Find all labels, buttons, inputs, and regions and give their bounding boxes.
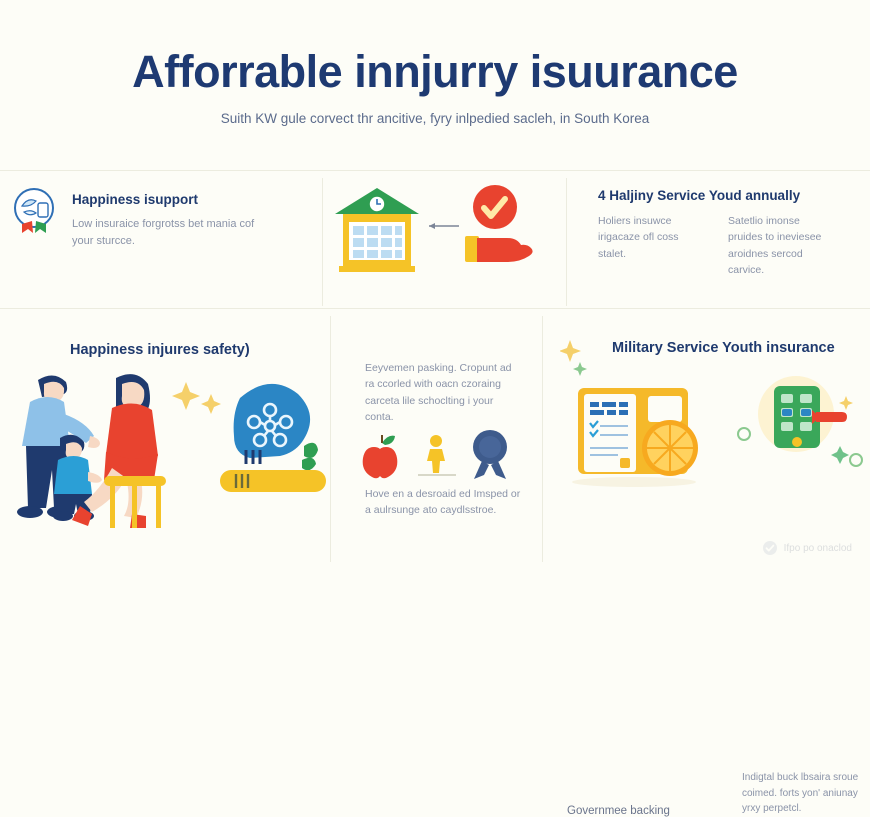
card-service-annually-columns: Holiers insuwce irigacaze ofl coss stale…: [598, 213, 866, 278]
middle-icon-row: [360, 425, 520, 490]
card-happiness-support-text: Happiness isupport Low insuraice forgrot…: [72, 186, 272, 250]
divider-middle: [0, 308, 870, 309]
card-service-column-2: Satetlio imonse pruides to ineviesee aro…: [728, 213, 836, 278]
arrow-left-icon: [429, 223, 459, 229]
page-subtitle: Suith KW gule corvect thr ancitive, fyry…: [0, 111, 870, 126]
page-header: Afforrable innjurry isuurance Suith KW g…: [0, 0, 870, 126]
family-illustration: [8, 360, 328, 555]
page-title: Afforrable innjurry isuurance: [0, 48, 870, 95]
award-badge-icon: [10, 186, 62, 242]
divider-top: [0, 170, 870, 171]
military-service-body-text: Indigtal buck lbsaira sroue coimed. fort…: [742, 770, 866, 817]
card-service-annually-title: 4 Haljiny Service Youd annually: [598, 188, 866, 203]
person-icon: [418, 435, 456, 475]
document-checklist-illustration: [562, 382, 712, 507]
globe-network-emblem-icon: [220, 384, 326, 492]
sparkle-icon: [172, 382, 221, 414]
watermark: Ifpo po onaclod: [762, 540, 852, 556]
card-service-column-1: Holiers insuwce irigacaze ofl coss stale…: [598, 213, 706, 278]
section-title-military-service: Military Service Youth insurance: [612, 340, 835, 356]
check-circle-icon: [762, 540, 778, 556]
school-building-icon: [335, 188, 419, 272]
card-happiness-support-body: Low insuraice forgrotss bet mania cof yo…: [72, 216, 272, 250]
middle-band: Happiness isupport Low insuraice forgrot…: [0, 178, 870, 308]
card-service-annually: 4 Haljiny Service Youd annually Holiers …: [598, 188, 866, 278]
middle-text-top: Eeyvemen pasking. Cropunt ad ra ccorled …: [365, 360, 520, 425]
check-circle-icon: [473, 185, 517, 229]
phone-keypad-illustration: [730, 372, 870, 487]
sparkle-icon: [560, 338, 590, 378]
helping-hand-icon: [465, 236, 533, 262]
apple-icon: [363, 435, 398, 478]
center-illustration: [325, 180, 560, 300]
government-backing-label: Governmee backing: [567, 805, 670, 817]
rosette-award-icon: [473, 430, 507, 479]
section-title-happiness-injuries: Happiness injuıres safety): [70, 342, 250, 358]
middle-text-bottom: Hove en a desroaid ed Imsped or a aulrsu…: [365, 486, 525, 519]
infographic-page: Afforrable innjurry isuurance Suith KW g…: [0, 0, 870, 570]
bottom-band: Happiness injuıres safety): [0, 310, 870, 570]
watermark-text: Ifpo po onaclod: [784, 543, 852, 554]
card-happiness-support: Happiness isupport Low insuraice forgrot…: [10, 186, 300, 250]
card-happiness-support-title: Happiness isupport: [72, 192, 272, 207]
